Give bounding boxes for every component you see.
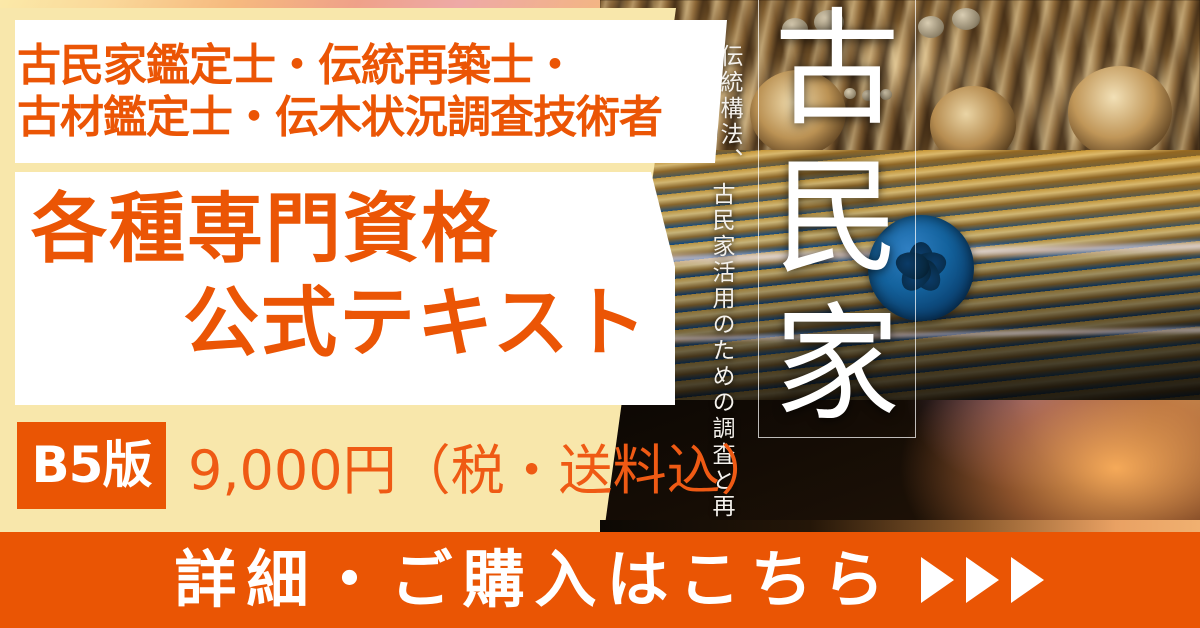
carving-bead (952, 8, 980, 30)
chevron-right-icon (921, 557, 954, 603)
cover-title-char-1: 古 (774, 10, 900, 131)
format-badge: B5版 (17, 422, 166, 509)
cta-label: 詳細・ご購入はこちら (156, 549, 894, 611)
slogan-line-2: 公式テキスト (183, 280, 649, 365)
price-row: B5版 9,000円（税・送料込） (17, 421, 775, 509)
chevron-right-icon (966, 557, 999, 603)
chevron-right-icon (1011, 557, 1044, 603)
cta-arrows (921, 557, 1044, 603)
cover-title-char-3: 家 (774, 305, 900, 426)
slogan-line-1: 各種専門資格 (31, 186, 499, 271)
headline-text: 古民家鑑定士・伝統再築士・ 古材鑑定士・伝木状況調査技術者 (17, 22, 717, 162)
headline-line-2: 古材鑑定士・伝木状況調査技術者 (17, 92, 717, 144)
cta-bar[interactable]: 詳細・ご購入はこちら (0, 532, 1200, 628)
headline-line-1: 古民家鑑定士・伝統再築士・ (17, 40, 717, 92)
carving-bead (918, 16, 944, 38)
cover-title: 古 民 家 (758, 4, 916, 444)
slogan-text: 各種専門資格 公式テキスト (15, 172, 683, 405)
cover-title-char-2: 民 (774, 158, 900, 279)
promo-banner: 伝統構法、 古民家活用のための調査と再生の 古 民 家 古民家鑑定士・伝統再築士… (0, 0, 1200, 628)
price-label: 9,000円（税・送料込） (188, 426, 775, 505)
carving-swirl (1068, 66, 1172, 158)
